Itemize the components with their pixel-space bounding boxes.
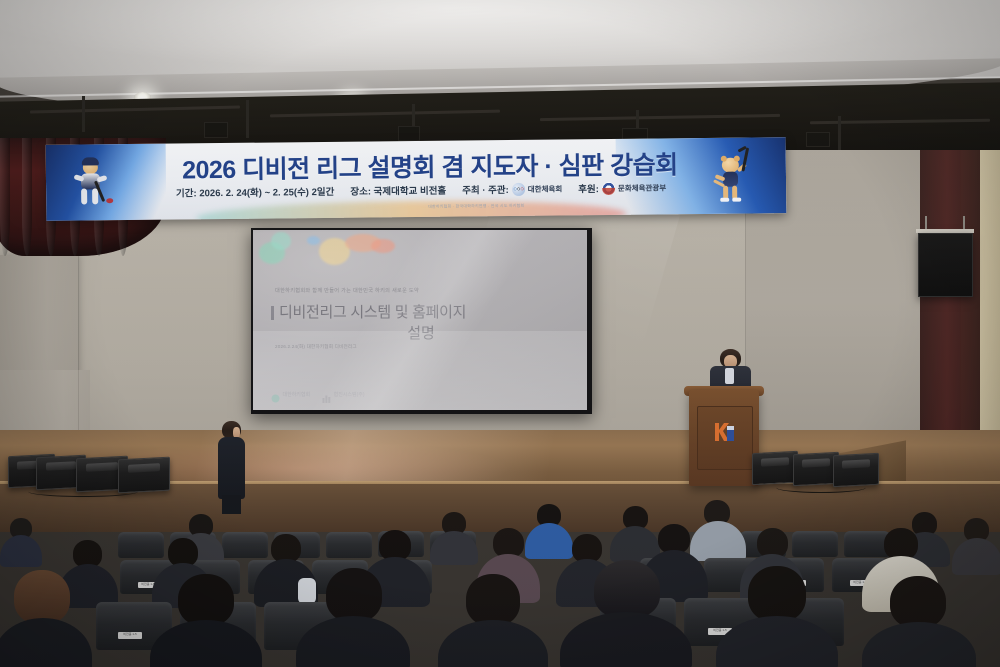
standing-person-coat xyxy=(218,437,245,499)
wedge-grille xyxy=(86,462,118,472)
stage-monitor-wedge xyxy=(752,451,798,485)
banner-venue: 장소: 국제대학교 비전홀 xyxy=(350,183,446,198)
university-crest-icon xyxy=(712,420,737,444)
audience-member-foreground xyxy=(716,566,836,667)
event-banner: 2026 디비전 리그 설명회 겸 지도자 · 심판 강습회 기간: 2026.… xyxy=(46,137,787,221)
mascot-arm xyxy=(96,175,107,183)
mascot-shoe xyxy=(720,198,729,202)
banner-host-org: 대한체육회 xyxy=(528,183,563,194)
banner-period: 기간: 2026. 2. 24(화) ~ 2. 25(수) 2일간 xyxy=(176,184,334,200)
stage-light-fixture xyxy=(806,132,830,147)
slide-blob xyxy=(371,239,395,253)
wedge-grille xyxy=(761,457,789,466)
stage-light-fixture xyxy=(398,126,420,141)
slide-title-line1: 디비전리그 시스템 및 홈페이지 xyxy=(271,303,579,323)
audience-seating-area: 비전홀 1-5 비전홀 1-5 비전홀 1-5 비전홀 1-5 비전홀 1-5 xyxy=(0,498,1000,667)
audience-head-with-cap xyxy=(594,560,660,618)
curtain-fold xyxy=(22,138,32,256)
audience-shoulders xyxy=(716,616,838,667)
slide-blob xyxy=(271,232,291,250)
audio-cable xyxy=(776,482,866,493)
audience-shoulders xyxy=(0,618,92,667)
audience-head xyxy=(748,566,806,622)
banner-sponsor-org: 문화체육관광부 xyxy=(618,182,666,194)
screen-lower-wash xyxy=(253,331,587,410)
projection-screen: 대한하키협회와 함께 만들어 가는 대한민국 하키의 새로운 도약 디비전리그 … xyxy=(253,230,587,410)
hockey-goalie-tiger-mascot xyxy=(68,154,121,213)
wedge-grille xyxy=(842,459,870,468)
rigging-drop xyxy=(246,100,249,138)
audience-shoulders xyxy=(0,535,42,567)
auditorium-photo-scene: 대한하키협회와 함께 만들어 가는 대한민국 하키의 새로운 도약 디비전리그 … xyxy=(0,0,1000,667)
rigging-drop xyxy=(838,116,841,150)
audience-shoulders xyxy=(430,531,478,565)
audience-member-foreground xyxy=(438,574,546,667)
seat-number-tag: 비전홀 1-5 xyxy=(118,632,142,639)
mascot-leg xyxy=(81,188,87,204)
audio-cable xyxy=(28,486,138,497)
slide-blob xyxy=(307,236,320,245)
audience-member-foreground xyxy=(150,574,260,667)
audience-head xyxy=(466,574,520,626)
mascot-ear xyxy=(734,156,740,162)
wedge-grille xyxy=(128,463,160,473)
audience-shoulders xyxy=(438,620,548,667)
audience-head xyxy=(326,568,382,622)
rigging-drop xyxy=(82,96,85,132)
banner-sponsor-label: 후원: xyxy=(578,181,599,195)
audience-shoulders xyxy=(862,622,976,667)
mascot-ear xyxy=(721,156,727,162)
mascot-helmet xyxy=(82,157,99,165)
audience-member-foreground xyxy=(0,570,90,667)
banner-host-label: 주최 · 주관: xyxy=(462,182,509,196)
audience-shoulders xyxy=(952,538,1000,575)
wedge-grille xyxy=(802,458,830,467)
wedge-grille xyxy=(46,461,77,471)
audience-shoulders xyxy=(296,616,410,667)
audience-shoulders xyxy=(150,620,262,667)
audience-member xyxy=(0,518,40,566)
korean-sport-olympic-committee-logo-icon xyxy=(512,182,525,195)
banner-sponsor-group: 후원: 문화체육관광부 xyxy=(578,180,666,195)
audience-shoulders xyxy=(560,612,692,667)
audience-member xyxy=(430,512,476,564)
stage-light-fixture xyxy=(204,122,228,138)
audience-member-foreground xyxy=(296,568,408,667)
slide-eyebrow: 대한하키협회와 함께 만들어 가는 대한민국 하키의 새로운 도약 xyxy=(275,287,419,294)
mascot-hockey-stick xyxy=(741,147,749,171)
audience-head xyxy=(14,570,70,624)
mascot-shoe xyxy=(732,198,741,202)
audience-member-foreground-cap xyxy=(560,560,690,667)
audience-head xyxy=(890,576,946,628)
right-stage-curtain xyxy=(920,150,980,450)
curtain-fold xyxy=(0,138,10,256)
wall-pa-speaker xyxy=(918,233,973,297)
pa-speaker-hanger-rod xyxy=(925,216,927,230)
presenter-shirt xyxy=(725,368,734,384)
audience-member-foreground xyxy=(862,576,974,667)
ministry-taegeuk-logo-icon xyxy=(602,181,615,194)
audience-head xyxy=(178,574,234,626)
pa-speaker-hanger-rod xyxy=(963,216,965,230)
banner-host-group: 주최 · 주관: 대한체육회 xyxy=(462,181,562,196)
audience-member xyxy=(952,518,1000,574)
